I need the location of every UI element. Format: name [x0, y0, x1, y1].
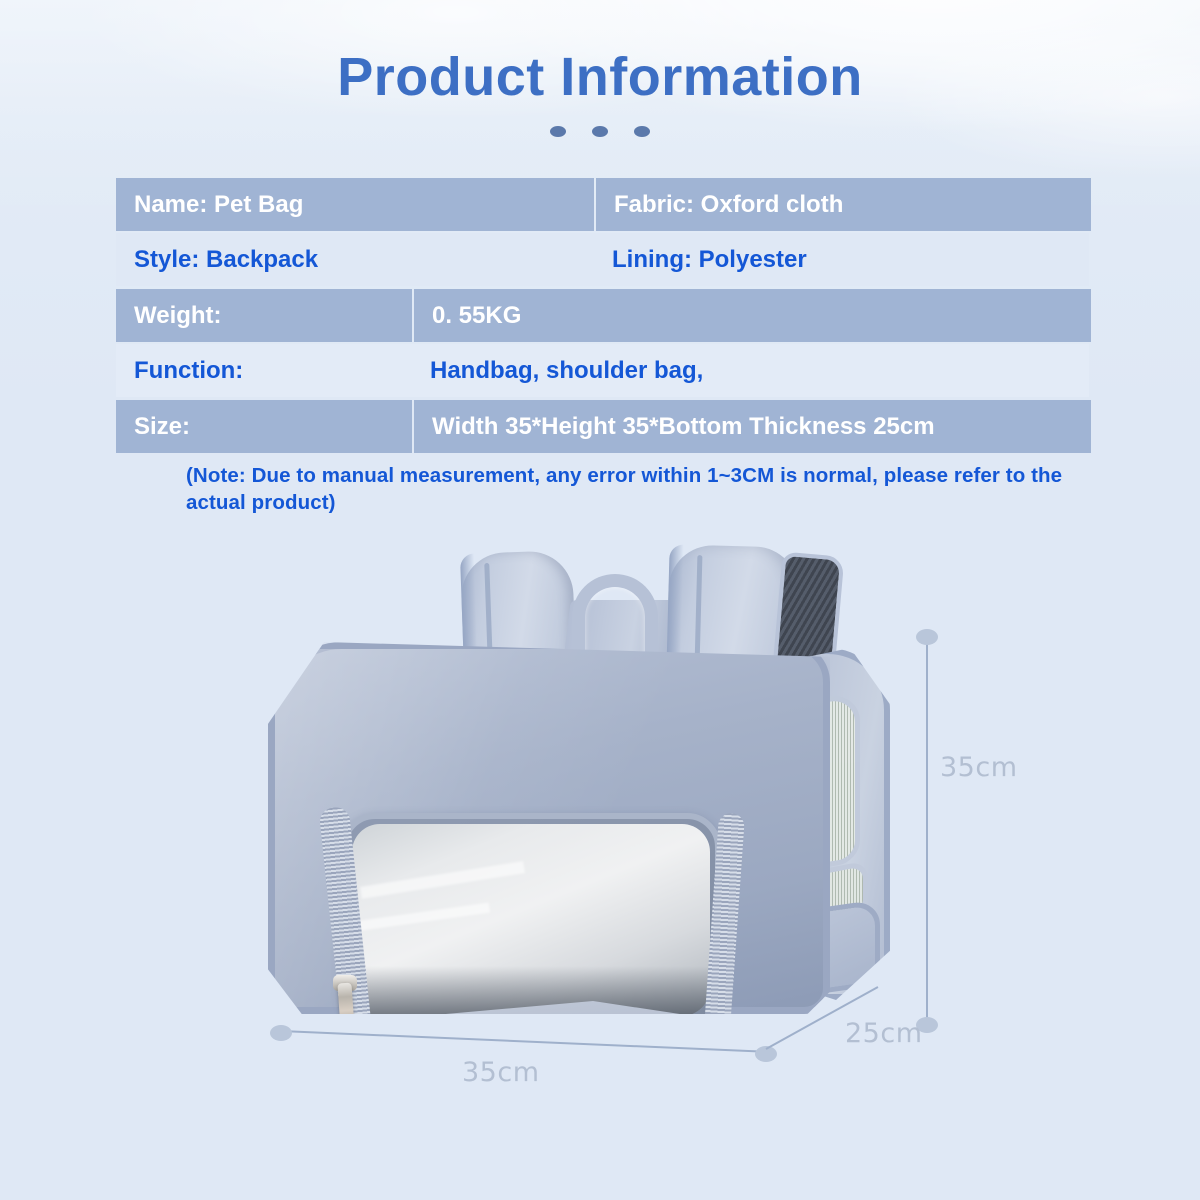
spec-style: Style: Backpack	[116, 233, 594, 286]
spec-table: Name: Pet Bag Fabric: Oxford cloth Style…	[116, 178, 1091, 453]
table-row: Size: Width 35*Height 35*Bottom Thicknes…	[116, 400, 1091, 453]
spec-fabric: Fabric: Oxford cloth	[596, 178, 1091, 231]
dimension-label-depth: 25cm	[845, 1018, 923, 1049]
glass-reflection	[360, 861, 525, 899]
title-block: Product Information	[0, 48, 1200, 137]
table-row: Name: Pet Bag Fabric: Oxford cloth	[116, 178, 1091, 231]
spec-weight-value: 0. 55KG	[414, 289, 1091, 342]
table-row: Weight: 0. 55KG	[116, 289, 1091, 342]
dimension-endpoint-dot	[916, 629, 938, 645]
dimension-label-height: 35cm	[940, 752, 1018, 783]
table-row: Style: Backpack Lining: Polyester	[116, 233, 1091, 286]
product-photo: Small	[250, 530, 970, 1050]
glass-reflection	[354, 903, 490, 932]
table-row: Function: Handbag, shoulder bag,	[116, 344, 1091, 397]
page-title: Product Information	[0, 48, 1200, 106]
dimension-line-height	[926, 640, 928, 1024]
spec-function-label: Function:	[116, 344, 412, 397]
bag-main-body: Small	[268, 642, 830, 1014]
spec-function-value: Handbag, shoulder bag,	[412, 344, 1089, 397]
decorative-dot	[550, 126, 566, 137]
spec-size-label: Size:	[116, 400, 412, 453]
spec-lining: Lining: Polyester	[594, 233, 1089, 286]
dimension-label-width: 35cm	[462, 1057, 540, 1088]
transparent-window-glass	[352, 824, 710, 1016]
transparent-window-frame	[341, 813, 721, 1027]
spec-name: Name: Pet Bag	[116, 178, 594, 231]
title-decorative-dots	[0, 126, 1200, 137]
spec-size-value: Width 35*Height 35*Bottom Thickness 25cm	[414, 400, 1091, 453]
decorative-dot	[634, 126, 650, 137]
dimension-endpoint-dot	[270, 1025, 292, 1041]
decorative-dot	[592, 126, 608, 137]
spec-weight-label: Weight:	[116, 289, 412, 342]
measurement-note: (Note: Due to manual measurement, any er…	[186, 462, 1066, 516]
